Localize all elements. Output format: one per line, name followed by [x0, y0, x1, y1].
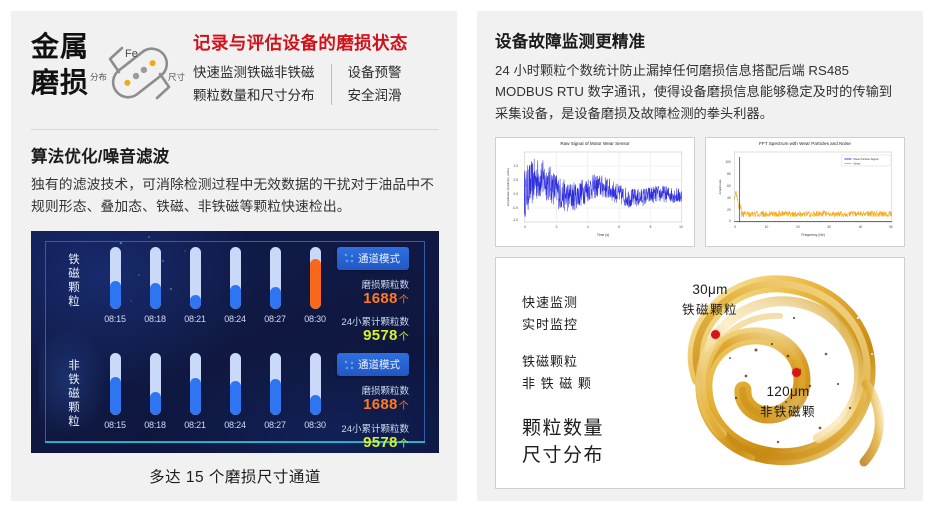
bar-fill — [150, 283, 161, 309]
bar-fill — [190, 295, 201, 309]
left-header-texts: 记录与评估设备的磨损状态 快速监测铁磁非铁磁 颗粒数量和尺寸分布 设备预警 安全… — [193, 27, 408, 107]
svg-text:0: 0 — [729, 219, 731, 223]
bar-fill — [270, 287, 281, 309]
wear-particle-count-label: 磨损颗粒数 — [337, 277, 409, 291]
bar-time-label: 08:24 — [221, 420, 249, 430]
svg-text:40: 40 — [859, 225, 863, 229]
bar-fill — [150, 392, 161, 416]
bar-time-label: 08:15 — [101, 314, 129, 324]
oil-text-big-2: 尺寸分布 — [522, 443, 604, 470]
header-rule — [31, 129, 439, 130]
bar-track — [230, 353, 241, 415]
subtitle-divider — [331, 64, 332, 105]
chart-2-plot: 100 80 60 40 20 0 0 10 20 30 40 50 — [711, 148, 899, 240]
device-row-label: 非 铁 磁 颗 粒 — [61, 359, 87, 429]
page-root: 金属 磨损 Fe — [0, 0, 934, 511]
cumulative-particle-count-unit: 个 — [399, 332, 409, 343]
subtitle-col-2: 设备预警 安全润滑 — [348, 62, 402, 107]
svg-text:20: 20 — [796, 225, 800, 229]
wear-sensor-icon: Fe 分布 尺寸 — [91, 31, 187, 115]
bar-fill — [110, 281, 121, 309]
device-display: 铁 磁 颗 粒08:1508:1808:2108:2408:2708:30通道模… — [31, 231, 439, 453]
bar-item[interactable]: 08:21 — [181, 353, 209, 430]
particle-tag-120um-name: 非铁磁颗 — [760, 401, 816, 420]
wear-particle-count-unit: 个 — [399, 401, 409, 412]
channel-grid-icon — [344, 253, 354, 263]
oil-text-line-1: 快速监测 — [522, 292, 604, 314]
svg-text:100: 100 — [725, 160, 730, 164]
bar-group: 08:1508:1808:2108:2408:2708:30 — [101, 247, 329, 324]
svg-text:-1.0: -1.0 — [512, 218, 518, 222]
bar-fill — [110, 377, 121, 415]
channel-mode-button[interactable]: 通道模式 — [337, 247, 409, 270]
bar-track — [270, 353, 281, 415]
device-row-stats: 通道模式磨损颗粒数1688个24小累计颗粒数9578个 — [337, 351, 421, 452]
oil-text-big-1: 颗粒数量 — [522, 416, 604, 443]
right-panel-card: 设备故障监测更精准 24 小时颗粒个数统计防止漏掉任何磨损信息搭配后端 RS48… — [477, 11, 923, 501]
chart-1-title: Raw Signal of Motor Wear Sensor — [501, 142, 689, 147]
cumulative-particle-count-label: 24小累计颗粒数 — [337, 421, 409, 435]
chart-1-plot: 1.0 0.5 0.0 -0.5 -1.0 0 2 4 6 8 10 — [501, 148, 689, 240]
device-caption: 多达 15 个磨损尺寸通道 — [31, 465, 439, 487]
bar-item[interactable]: 08:15 — [101, 247, 129, 324]
bar-time-label: 08:27 — [261, 420, 289, 430]
bar-track — [310, 247, 321, 309]
svg-text:10: 10 — [679, 225, 683, 229]
svg-text:0: 0 — [524, 225, 526, 229]
right-panel-body: 24 小时颗粒个数统计防止漏掉任何磨损信息搭配后端 RS485 MODBUS R… — [495, 60, 905, 124]
oil-text-line-4: 非 铁 磁 颗 — [522, 373, 604, 395]
particle-tag-30um: 30μm 铁磁颗粒 — [682, 282, 738, 318]
bar-track — [110, 353, 121, 415]
cumulative-particle-count-value: 9578个 — [337, 328, 409, 345]
bar-time-label: 08:24 — [221, 314, 249, 324]
bar-item[interactable]: 08:15 — [101, 353, 129, 430]
cumulative-particle-count-value: 9578个 — [337, 435, 409, 452]
svg-text:-0.5: -0.5 — [512, 206, 518, 210]
particle-tag-30um-size: 30μm — [682, 282, 738, 297]
chart-2-legend: Wear Particle Signal Noise — [842, 155, 890, 166]
svg-text:2: 2 — [556, 225, 558, 229]
svg-text:80: 80 — [727, 172, 731, 176]
bar-time-label: 08:27 — [261, 314, 289, 324]
bar-fill — [270, 379, 281, 415]
bar-item[interactable]: 08:18 — [141, 353, 169, 430]
wear-particle-count-label: 磨损颗粒数 — [337, 383, 409, 397]
bar-fill — [310, 395, 321, 415]
oil-text-line-3: 铁磁颗粒 — [522, 351, 604, 373]
bar-item[interactable]: 08:24 — [221, 353, 249, 430]
bar-time-label: 08:21 — [181, 420, 209, 430]
chart-raw-signal: Raw Signal of Motor Wear Sensor — [495, 137, 695, 247]
bar-time-label: 08:18 — [141, 314, 169, 324]
chart-1-xlabel: Time (s) — [597, 233, 609, 237]
channel-mode-button[interactable]: 通道模式 — [337, 353, 409, 376]
left-header: 金属 磨损 Fe — [31, 27, 439, 115]
particle-tag-120um: 120μm 非铁磁颗 — [760, 384, 816, 420]
chart-fft-spectrum: FFT Spectrum with Wear Particles and Noi… — [705, 137, 905, 247]
chart-2-xlabel: Frequency (Hz) — [801, 233, 824, 237]
wear-particle-count-unit: 个 — [399, 295, 409, 306]
bar-item[interactable]: 08:18 — [141, 247, 169, 324]
bar-fill — [310, 259, 321, 309]
svg-text:1.0: 1.0 — [514, 164, 519, 168]
bar-track — [150, 353, 161, 415]
charts-row: Raw Signal of Motor Wear Sensor — [495, 137, 905, 247]
icon-size-label: 尺寸 — [168, 71, 185, 83]
cumulative-particle-count-unit: 个 — [399, 439, 409, 450]
logo-line-1: 金属 — [31, 29, 89, 65]
bar-fill — [230, 381, 241, 415]
wear-particle-count-value: 1688个 — [337, 291, 409, 308]
bar-time-label: 08:15 — [101, 420, 129, 430]
bar-time-label: 08:30 — [301, 314, 329, 324]
header-subtitle-group: 快速监测铁磁非铁磁 颗粒数量和尺寸分布 设备预警 安全润滑 — [193, 62, 408, 107]
device-row-stats: 通道模式磨损颗粒数1688个24小累计颗粒数9578个 — [337, 245, 421, 346]
subtitle-2-line-2: 安全润滑 — [348, 85, 402, 108]
product-logo: 金属 磨损 — [31, 27, 89, 102]
subtitle-1-line-1: 快速监测铁磁非铁磁 — [193, 62, 315, 85]
particle-tag-120um-size: 120μm — [760, 384, 816, 399]
svg-text:50: 50 — [889, 225, 893, 229]
svg-text:6: 6 — [618, 225, 620, 229]
bar-time-label: 08:30 — [301, 420, 329, 430]
chart-2-title: FFT Spectrum with Wear Particles and Noi… — [711, 142, 899, 147]
svg-text:0: 0 — [734, 225, 736, 229]
icon-distribution-label: 分布 — [90, 71, 107, 83]
bar-item[interactable]: 08:27 — [261, 247, 289, 324]
left-column: 金属 磨损 Fe — [0, 0, 467, 511]
device-row-1: 铁 磁 颗 粒08:1508:1808:2108:2408:2708:30通道模… — [39, 239, 431, 346]
bar-track — [110, 247, 121, 309]
logo-line-2: 磨损 — [31, 65, 89, 101]
subtitle-col-1: 快速监测铁磁非铁磁 颗粒数量和尺寸分布 — [193, 62, 315, 107]
oil-left-text: 快速监测 实时监控 铁磁颗粒 非 铁 磁 颗 颗粒数量 尺寸分布 — [522, 292, 604, 469]
page-title: 记录与评估设备的磨损状态 — [193, 30, 408, 55]
section-title: 算法优化/噪音滤波 — [31, 143, 439, 167]
device-row-2: 非 铁 磁 颗 粒08:1508:1808:2108:2408:2708:30通… — [39, 345, 431, 452]
device-rows: 铁 磁 颗 粒08:1508:1808:2108:2408:2708:30通道模… — [39, 239, 431, 452]
right-panel-title: 设备故障监测更精准 — [495, 28, 905, 52]
bar-track — [270, 247, 281, 309]
oil-text-line-2: 实时监控 — [522, 314, 604, 336]
svg-text:4: 4 — [587, 225, 589, 229]
svg-text:Noise: Noise — [853, 161, 860, 165]
bar-time-label: 08:21 — [181, 314, 209, 324]
bar-track — [150, 247, 161, 309]
svg-text:0.0: 0.0 — [514, 192, 519, 196]
bar-item[interactable]: 08:27 — [261, 353, 289, 430]
svg-text:60: 60 — [727, 184, 731, 188]
chart-2-ylabel: Amplitude — [718, 179, 722, 194]
bar-item[interactable]: 08:24 — [221, 247, 249, 324]
bar-track — [190, 353, 201, 415]
left-panel-card: 金属 磨损 Fe — [11, 11, 457, 501]
subtitle-1-line-2: 颗粒数量和尺寸分布 — [193, 85, 315, 108]
svg-text:10: 10 — [765, 225, 769, 229]
bar-fill — [230, 285, 241, 309]
channel-grid-icon — [344, 360, 354, 370]
oil-particle-panel: 快速监测 实时监控 铁磁颗粒 非 铁 磁 颗 颗粒数量 尺寸分布 30μm 铁磁… — [495, 257, 905, 489]
bar-track — [310, 353, 321, 415]
svg-text:40: 40 — [727, 196, 731, 200]
bar-item[interactable]: 08:30 — [301, 247, 329, 324]
bar-group: 08:1508:1808:2108:2408:2708:30 — [101, 353, 329, 430]
bar-track — [230, 247, 241, 309]
bar-fill — [190, 378, 201, 415]
svg-text:30: 30 — [827, 225, 831, 229]
cumulative-particle-count-label: 24小累计颗粒数 — [337, 314, 409, 328]
bar-track — [190, 247, 201, 309]
channel-mode-label: 通道模式 — [358, 251, 400, 266]
device-row-label: 铁 磁 颗 粒 — [61, 253, 87, 309]
right-column: 设备故障监测更精准 24 小时颗粒个数统计防止漏掉任何磨损信息搭配后端 RS48… — [467, 0, 934, 511]
bar-time-label: 08:18 — [141, 420, 169, 430]
svg-text:20: 20 — [727, 208, 731, 212]
svg-text:8: 8 — [650, 225, 652, 229]
bar-item[interactable]: 08:21 — [181, 247, 209, 324]
icon-fe-label: Fe — [125, 48, 138, 60]
section-body: 独有的滤波技术，可消除检测过程中无效数据的干扰对于油品中不规则形态、叠加态、铁磁… — [31, 174, 439, 219]
subtitle-2-line-1: 设备预警 — [348, 62, 402, 85]
channel-mode-label: 通道模式 — [358, 357, 400, 372]
wear-particle-count-value: 1688个 — [337, 397, 409, 414]
chart-1-ylabel: Amplitude (Arbitrary units) — [506, 168, 510, 206]
svg-text:0.5: 0.5 — [514, 178, 519, 182]
particle-tag-30um-name: 铁磁颗粒 — [682, 299, 738, 318]
bar-item[interactable]: 08:30 — [301, 353, 329, 430]
